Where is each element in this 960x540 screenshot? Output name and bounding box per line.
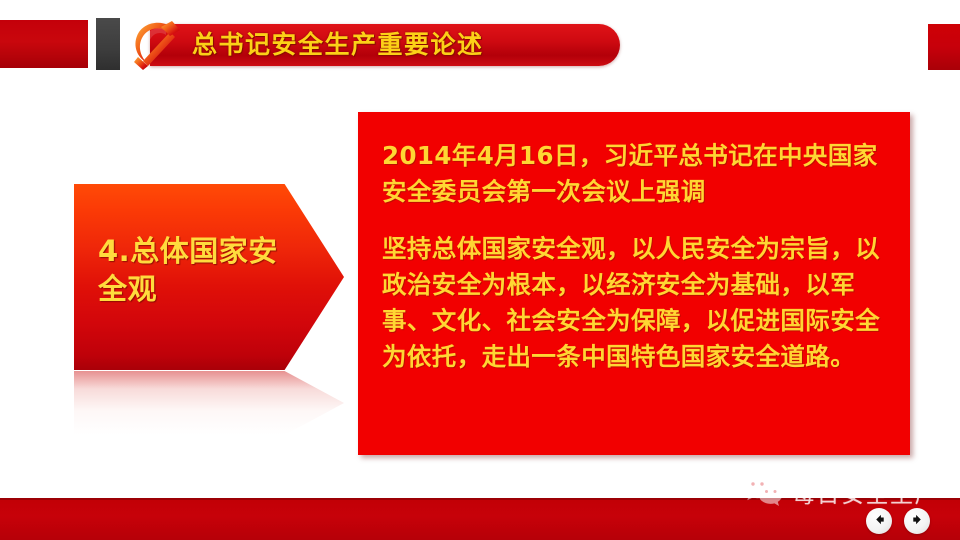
content-box: 2014年4月16日，习近平总书记在中央国家安全委员会第一次会议上强调 坚持总体…: [358, 112, 910, 455]
prev-slide-button[interactable]: [866, 508, 892, 534]
arrow-right-icon: [910, 512, 925, 531]
footer-bar: [0, 500, 960, 540]
content-body: 坚持总体国家安全观，以人民安全为宗旨，以政治安全为根本，以经济安全为基础，以军事…: [382, 231, 888, 375]
arrow-label: 4.总体国家安全观: [74, 184, 344, 370]
page-title: 总书记安全生产重要论述: [192, 25, 484, 65]
next-slide-button[interactable]: [904, 508, 930, 534]
arrow-label-reflection: [74, 371, 344, 435]
nav-buttons: [866, 508, 930, 534]
content-heading: 2014年4月16日，习近平总书记在中央国家安全委员会第一次会议上强调: [382, 138, 888, 209]
header-left-red-block: [0, 20, 88, 68]
header-gray-divider: [96, 18, 120, 70]
cpc-hammer-sickle-emblem-icon: [128, 17, 184, 71]
header-right-red-block: [928, 24, 960, 70]
arrow-label-text: 4.总体国家安全观: [98, 232, 288, 309]
arrow-left-icon: [872, 512, 887, 531]
slide-canvas: 总书记安全生产重要论述 4.总体国家安全观 2014年4月16日，习近平总书记在…: [0, 0, 960, 540]
